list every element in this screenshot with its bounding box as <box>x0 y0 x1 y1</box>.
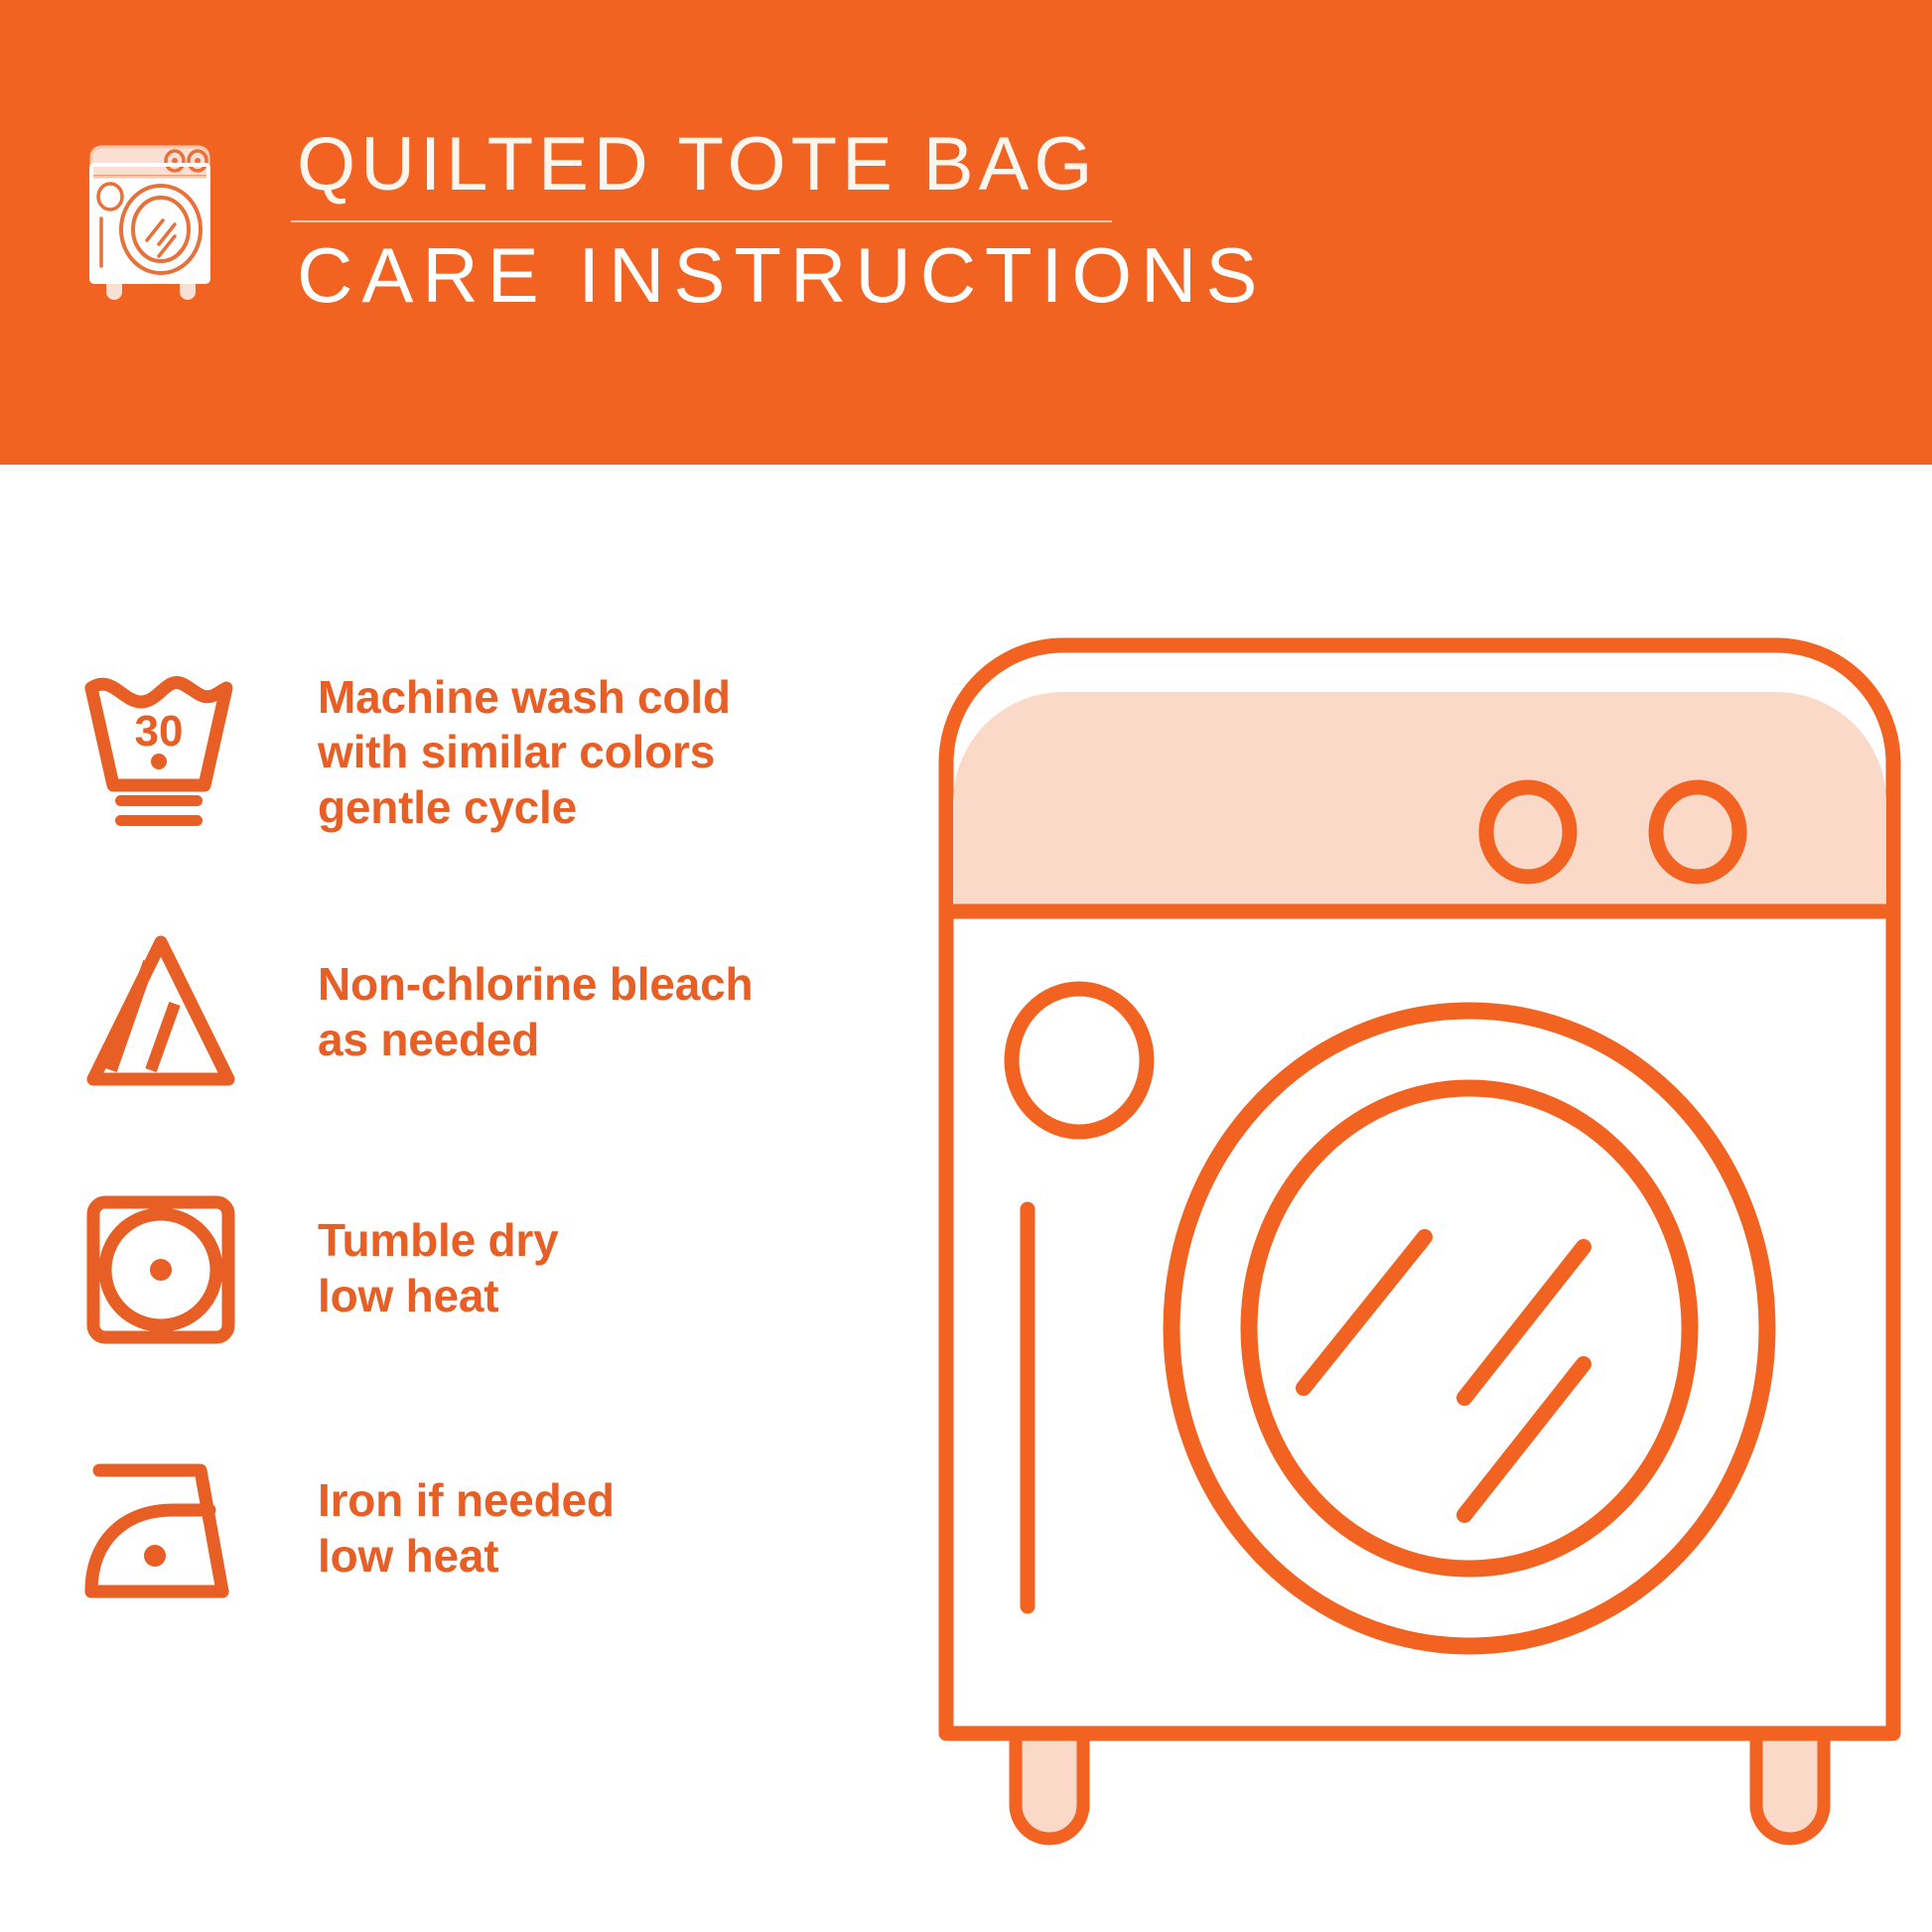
svg-text:30: 30 <box>135 707 184 756</box>
care-item-iron-label: Iron if needed low heat <box>296 1473 615 1584</box>
care-line: Iron if needed <box>318 1473 615 1529</box>
washing-machine-illustration <box>928 594 1911 1874</box>
washing-machine-icon <box>77 135 236 299</box>
care-instruction-list: 30 Machine wash cold with similar colors… <box>77 653 892 1628</box>
header-inner: QUILTED TOTE BAG CARE INSTRUCTIONS <box>77 127 1318 345</box>
care-item-machine-wash-label: Machine wash cold with similar colors ge… <box>296 670 731 836</box>
care-item-tumble-dry: Tumble dry low heat <box>77 1170 892 1368</box>
care-item-bleach: Non-chlorine bleach as needed <box>77 913 892 1112</box>
top-control-panel <box>953 692 1886 909</box>
care-line: gentle cycle <box>318 780 731 836</box>
care-line: low heat <box>318 1529 615 1585</box>
care-item-machine-wash: 30 Machine wash cold with similar colors… <box>77 653 892 852</box>
body-area: 30 Machine wash cold with similar colors… <box>0 465 1932 1932</box>
care-line: Non-chlorine bleach <box>318 957 753 1013</box>
tumble-dry-low-heat-icon <box>77 1174 296 1363</box>
title-divider <box>291 220 1112 222</box>
non-chlorine-bleach-triangle-icon <box>77 918 296 1107</box>
leg-left <box>1016 1733 1083 1839</box>
care-item-bleach-label: Non-chlorine bleach as needed <box>296 957 753 1067</box>
care-item-iron: Iron if needed low heat <box>77 1430 892 1628</box>
care-line: with similar colors <box>318 725 731 780</box>
page-title-primary: QUILTED TOTE BAG <box>291 127 1294 203</box>
care-item-tumble-dry-label: Tumble dry low heat <box>296 1213 559 1323</box>
iron-low-heat-icon <box>77 1435 296 1623</box>
care-line: as needed <box>318 1013 753 1068</box>
leg-right <box>1756 1733 1824 1839</box>
care-line: low heat <box>318 1269 559 1324</box>
wash-tub-30-gentle-icon: 30 <box>77 658 296 847</box>
header-band: QUILTED TOTE BAG CARE INSTRUCTIONS <box>0 0 1932 465</box>
header-text-block: QUILTED TOTE BAG CARE INSTRUCTIONS <box>291 127 1294 314</box>
care-line: Tumble dry <box>318 1213 559 1269</box>
page-title-secondary: CARE INSTRUCTIONS <box>291 236 1294 314</box>
care-line: Machine wash cold <box>318 670 731 726</box>
